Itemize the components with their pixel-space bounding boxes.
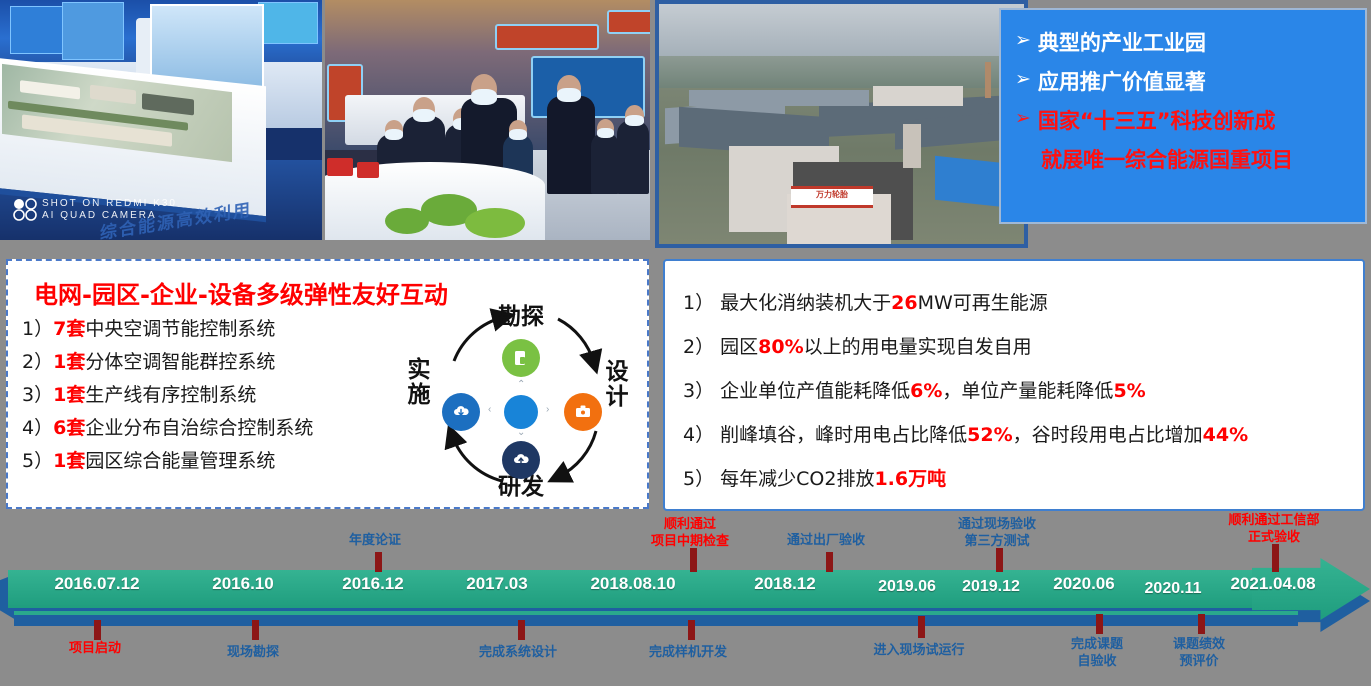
photo3-silo: [903, 124, 921, 168]
cycle-tick-up: ⌃: [517, 379, 525, 390]
photo3-building: [873, 86, 963, 106]
photo2-led-banner: [607, 10, 650, 34]
note-line: 进入现场试运行: [824, 642, 1014, 659]
timeline-arrow-head: [1252, 558, 1370, 634]
timeline-note-above: 顺利通过工信部 正式验收: [1186, 512, 1362, 546]
item-text: ，单位产量能耗降低: [942, 380, 1113, 402]
list-item: 5）1套园区综合能量管理系统: [22, 445, 313, 478]
officials-visit-photo: [325, 0, 650, 240]
item-highlight: 6套: [53, 417, 85, 439]
chevron-right-icon: ➢: [1015, 67, 1031, 93]
photo1-model-block: [90, 85, 136, 105]
callout-text: 国家“十三五”科技创新成: [1038, 106, 1276, 136]
list-item: 2） 园区80%以上的用电量实现自发自用: [683, 325, 1248, 369]
left-panel: 电网-园区-企业-设备多级弹性友好互动 1）7套中央空调节能控制系统 2）1套分…: [6, 259, 649, 509]
note-line: 顺利通过工信部: [1186, 512, 1362, 529]
slide-root: 综合能源高效利用 SHOT ON REDMI K30 AI QUAD CAMER…: [0, 0, 1371, 686]
item-number: 2）: [22, 351, 53, 373]
item-text: 分体空调智能群控系统: [85, 351, 275, 373]
photo2-mask: [385, 129, 403, 140]
item-highlight: 1套: [53, 450, 85, 472]
item-highlight: 1.6万吨: [874, 468, 946, 490]
callout-text: 典型的产业工业园: [1038, 28, 1206, 58]
list-item: 1）7套中央空调节能控制系统: [22, 313, 313, 346]
photo2-mask: [471, 89, 497, 105]
right-panel-list: 1） 最大化消纳装机大于26MW可再生能源 2） 园区80%以上的用电量实现自发…: [683, 281, 1248, 501]
item-highlight: 80%: [758, 336, 803, 358]
cycle-label-survey: 勘探: [498, 297, 544, 331]
note-line: 通过出厂验收: [746, 532, 906, 549]
note-line: 通过现场验收: [912, 516, 1082, 533]
list-item: 1） 最大化消纳装机大于26MW可再生能源: [683, 281, 1248, 325]
timeline-stem-above: [1272, 544, 1279, 572]
item-text: 最大化消纳装机大于: [720, 292, 891, 314]
photo2-person: [617, 120, 649, 194]
camera-watermark-icon: [12, 198, 38, 222]
watermark-line-1: SHOT ON REDMI K30: [42, 198, 177, 210]
photo2-mask: [625, 115, 644, 126]
timeline-date[interactable]: 2016.07.12: [42, 574, 152, 594]
callout-line: ➢ 应用推广价值显著: [1015, 67, 1355, 97]
timeline-date[interactable]: 2019.06: [866, 578, 948, 596]
chevron-right-icon: ➢: [1015, 106, 1031, 132]
callout-text: 就展唯一综合能源国重项目: [1041, 145, 1293, 175]
list-item: 2）1套分体空调智能群控系统: [22, 346, 313, 379]
photo2-mask: [597, 128, 614, 138]
item-text: 企业单位产值能耗降低: [720, 380, 910, 402]
highlights-callout: ➢ 典型的产业工业园 ➢ 应用推广价值显著 ➢ 国家“十三五”科技创新成 就展唯…: [999, 8, 1367, 224]
photo1-model-block: [20, 80, 80, 99]
list-item: 3） 企业单位产值能耗降低6%，单位产量能耗降低5%: [683, 369, 1248, 413]
timeline-note-below: 现场勘探: [176, 644, 330, 661]
photo2-mask: [509, 129, 527, 140]
timeline-date[interactable]: 2019.12: [950, 578, 1032, 596]
watermark-line-2: AI QUAD CAMERA: [42, 210, 177, 222]
cycle-node-right[interactable]: [564, 393, 602, 431]
item-text: 以上的用电量实现自发自用: [804, 336, 1032, 358]
timeline-stem-above: [826, 552, 833, 572]
timeline-note-below: 课题绩效 预评价: [1124, 636, 1274, 670]
item-highlight: 52%: [967, 424, 1012, 446]
item-text: MW可再生能源: [918, 292, 1048, 314]
note-line: 完成样机开发: [600, 644, 776, 661]
timeline-stem-above: [690, 548, 697, 572]
note-line: 项目启动: [18, 640, 172, 657]
cycle-tick-left: ‹: [488, 404, 491, 415]
callout-line: ➢ 典型的产业工业园: [1015, 28, 1355, 58]
timeline-note-above: 通过现场验收 第三方测试: [912, 516, 1082, 550]
photo1-screen-c: [258, 2, 318, 44]
cycle-tick-down: ⌄: [517, 427, 525, 438]
callout-line: ➢ 国家“十三五”科技创新成: [1015, 106, 1355, 136]
cloud-upload-icon: [512, 451, 530, 469]
item-number: 5）: [22, 450, 53, 472]
item-highlight: 6%: [910, 380, 942, 402]
cycle-label-design: 设计: [602, 359, 626, 409]
timeline-date[interactable]: 2017.03: [452, 574, 542, 594]
photo1-screen-b: [62, 2, 124, 60]
exhibition-model-photo: 综合能源高效利用 SHOT ON REDMI K30 AI QUAD CAMER…: [0, 0, 322, 240]
item-highlight: 26: [891, 292, 917, 314]
note-line: 完成系统设计: [430, 644, 606, 661]
timeline-date[interactable]: 2020.06: [1040, 574, 1128, 594]
callout-text: 应用推广价值显著: [1038, 67, 1206, 97]
photo1-watermark: SHOT ON REDMI K30 AI QUAD CAMERA: [42, 198, 177, 222]
note-line: 年度论证: [290, 532, 460, 549]
cloud-download-icon: [452, 403, 470, 421]
document-icon: [512, 349, 530, 367]
photo2-mask: [557, 88, 581, 102]
item-number: 1）: [683, 292, 714, 314]
timeline-date[interactable]: 2018.12: [740, 574, 830, 594]
item-text: 中央空调节能控制系统: [85, 318, 275, 340]
photo2-mask: [413, 109, 435, 122]
timeline-date[interactable]: 2018.08.10: [578, 574, 688, 594]
item-highlight: 1套: [53, 384, 85, 406]
timeline-note-above: 年度论证: [290, 532, 460, 549]
item-number: 3）: [22, 384, 53, 406]
photo3-roof: [689, 90, 869, 106]
item-highlight: 1套: [53, 351, 85, 373]
timeline-note-below: 进入现场试运行: [824, 642, 1014, 659]
cycle-node-left[interactable]: [442, 393, 480, 431]
left-panel-title: 电网-园区-企业-设备多级弹性友好互动: [34, 275, 448, 310]
list-item: 4） 削峰填谷，峰时用电占比降低52%，谷时段用电占比增加44%: [683, 413, 1248, 457]
timeline-stem-below: [94, 620, 101, 640]
photo3-hills: [659, 56, 1024, 90]
photo1-model-block: [142, 93, 194, 115]
photo2-model-green: [465, 208, 525, 238]
note-line: 课题绩效: [1124, 636, 1274, 653]
left-panel-list: 1）7套中央空调节能控制系统 2）1套分体空调智能群控系统 3）1套生产线有序控…: [22, 313, 313, 478]
timeline-stem-below: [918, 616, 925, 638]
item-number: 4）: [22, 417, 53, 439]
item-number: 5）: [683, 468, 714, 490]
note-line: 第三方测试: [912, 533, 1082, 550]
industrial-park-aerial-photo: 万力轮胎: [655, 0, 1028, 248]
timeline-stem-below: [518, 620, 525, 640]
item-text: 企业分布自治综合控制系统: [85, 417, 313, 439]
timeline-date[interactable]: 2016.12: [328, 574, 418, 594]
item-number: 4）: [683, 424, 714, 446]
photo3-chimney: [985, 62, 991, 98]
cycle-node-center[interactable]: [504, 395, 538, 429]
timeline-note-below: 项目启动: [18, 640, 172, 657]
timeline-note-above: 通过出厂验收: [746, 532, 906, 549]
photo3-banner: 万力轮胎: [791, 186, 873, 208]
cycle-diagram: 勘探 设计 研发 实施 ⌃ ⌄ ‹ ›: [398, 301, 643, 501]
timeline-date[interactable]: 2021.04.08: [1218, 574, 1328, 594]
photo2-person: [591, 132, 619, 194]
item-number: 3）: [683, 380, 714, 402]
item-number: 2）: [683, 336, 714, 358]
briefcase-icon: [574, 403, 592, 421]
timeline-shadow-highlight: [14, 611, 1298, 615]
note-line: 现场勘探: [176, 644, 330, 661]
list-item: 4）6套企业分布自治综合控制系统: [22, 412, 313, 445]
timeline-date[interactable]: 2016.10: [198, 574, 288, 594]
cycle-label-implement: 实施: [404, 357, 428, 407]
item-highlight: 44%: [1203, 424, 1248, 446]
timeline-note-below: 完成样机开发: [600, 644, 776, 661]
list-item: 3）1套生产线有序控制系统: [22, 379, 313, 412]
item-highlight: 5%: [1113, 380, 1145, 402]
item-highlight: 7套: [53, 318, 85, 340]
item-text: 园区: [720, 336, 758, 358]
item-text: 园区综合能量管理系统: [85, 450, 275, 472]
list-item: 5） 每年减少CO2排放1.6万吨: [683, 457, 1248, 501]
cycle-tick-right: ›: [546, 404, 549, 415]
note-line: 预评价: [1124, 653, 1274, 670]
photo2-led-banner: [495, 24, 599, 50]
timeline-stem-above: [996, 548, 1003, 572]
project-timeline: 2016.07.12 2016.10 2016.12 2017.03 2018.…: [0, 512, 1371, 686]
item-text: 削峰填谷，峰时用电占比降低: [720, 424, 967, 446]
timeline-note-below: 完成系统设计: [430, 644, 606, 661]
photo2-person: [547, 96, 595, 194]
right-panel: 1） 最大化消纳装机大于26MW可再生能源 2） 园区80%以上的用电量实现自发…: [663, 259, 1365, 511]
note-line: 正式验收: [1186, 529, 1362, 546]
photo2-model-red: [327, 158, 353, 176]
note-line: 顺利通过: [604, 516, 776, 533]
chevron-right-icon: ➢: [1015, 28, 1031, 54]
callout-line: 就展唯一综合能源国重项目: [1015, 145, 1355, 175]
photo2-model-red: [357, 162, 379, 178]
cycle-node-top[interactable]: [502, 339, 540, 377]
item-text: ，谷时段用电占比增加: [1013, 424, 1203, 446]
item-text: 每年减少CO2排放: [720, 468, 874, 490]
timeline-stem-below: [688, 620, 695, 640]
cycle-node-bottom[interactable]: [502, 441, 540, 479]
item-text: 生产线有序控制系统: [85, 384, 256, 406]
timeline-stem-below: [252, 620, 259, 640]
timeline-stem-below: [1096, 614, 1103, 634]
timeline-date[interactable]: 2020.11: [1132, 580, 1214, 598]
item-number: 1）: [22, 318, 53, 340]
timeline-stem-below: [1198, 614, 1205, 634]
timeline-stem-above: [375, 552, 382, 572]
